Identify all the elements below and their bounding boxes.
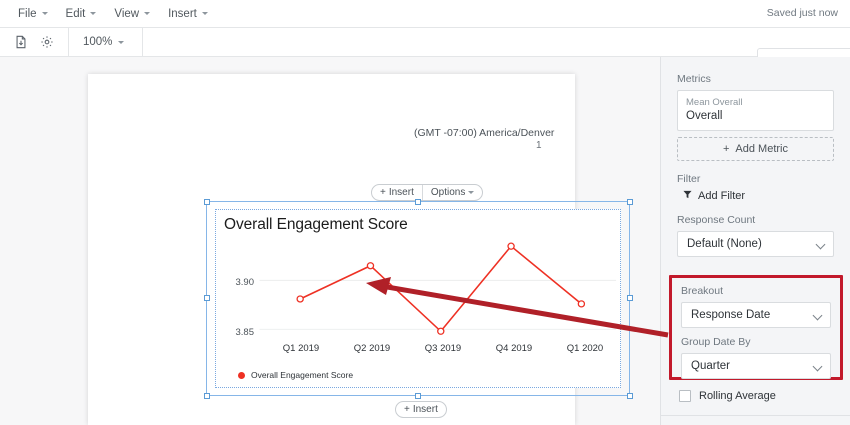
x-axis-tick-1: Q2 2019 bbox=[337, 343, 407, 354]
response-count-select[interactable]: Default (None) bbox=[677, 231, 834, 257]
menu-item-view[interactable]: View bbox=[105, 0, 159, 28]
resize-handle-middle-right[interactable] bbox=[627, 295, 633, 301]
plus-icon: + bbox=[723, 143, 729, 155]
document-download-icon[interactable] bbox=[8, 29, 34, 55]
rolling-average-label: Rolling Average bbox=[699, 390, 776, 402]
insert-toolbar-top: + Insert Options bbox=[371, 184, 483, 201]
menu-item-edit[interactable]: Edit bbox=[57, 0, 106, 28]
response-count-value: Default (None) bbox=[687, 238, 762, 250]
add-metric-label: Add Metric bbox=[735, 143, 788, 155]
series-markers bbox=[297, 243, 584, 334]
breakout-highlight-group: Breakout Response Date Group Date By Qua… bbox=[669, 275, 843, 380]
report-page: (GMT -07:00) America/Denver 1 + Insert O… bbox=[88, 74, 575, 425]
options-button[interactable]: Options bbox=[423, 185, 482, 200]
gear-icon[interactable] bbox=[34, 29, 60, 55]
resize-handle-bottom-center[interactable] bbox=[415, 393, 421, 399]
chevron-down-icon bbox=[118, 41, 124, 44]
menu-item-insert[interactable]: Insert bbox=[159, 0, 217, 28]
resize-handle-top-center[interactable] bbox=[415, 199, 421, 205]
chevron-down-icon bbox=[813, 362, 823, 372]
resize-handle-bottom-right[interactable] bbox=[627, 393, 633, 399]
toolbar: 100% bbox=[0, 28, 850, 57]
panel-divider bbox=[661, 415, 850, 416]
filter-section-label: Filter bbox=[677, 173, 834, 185]
app-root: File Edit View Insert Saved just now bbox=[0, 0, 850, 425]
resize-handle-bottom-left[interactable] bbox=[204, 393, 210, 399]
resize-handle-top-right[interactable] bbox=[627, 199, 633, 205]
toolbar-divider bbox=[68, 28, 69, 57]
chevron-down-icon bbox=[90, 12, 96, 15]
panel-content: Metrics Mean Overall Overall + Add Metri… bbox=[661, 57, 850, 257]
toolbar-divider-right bbox=[142, 28, 143, 57]
menu-item-label: File bbox=[18, 8, 37, 20]
timezone-label: (GMT -07:00) America/Denver bbox=[414, 127, 554, 139]
x-axis-tick-4: Q1 2020 bbox=[550, 343, 620, 354]
plus-icon: + bbox=[404, 404, 410, 415]
insert-toolbar-bottom: + Insert bbox=[395, 401, 447, 418]
chevron-down-icon bbox=[202, 12, 208, 15]
x-axis-tick-2: Q3 2019 bbox=[408, 343, 478, 354]
group-date-by-value: Quarter bbox=[691, 360, 730, 372]
panel-tab[interactable] bbox=[757, 48, 850, 57]
save-status: Saved just now bbox=[767, 7, 838, 19]
plus-icon: + bbox=[380, 187, 386, 198]
resize-handle-top-left[interactable] bbox=[204, 199, 210, 205]
response-count-label: Response Count bbox=[677, 214, 834, 226]
chevron-down-icon bbox=[468, 191, 474, 194]
metrics-section-label: Metrics bbox=[677, 73, 834, 85]
group-date-by-label: Group Date By bbox=[681, 336, 831, 348]
resize-handle-middle-left[interactable] bbox=[204, 295, 210, 301]
menu-item-file[interactable]: File bbox=[9, 0, 57, 28]
chevron-down-icon bbox=[144, 12, 150, 15]
add-metric-button[interactable]: + Add Metric bbox=[677, 137, 834, 161]
insert-label: Insert bbox=[389, 187, 414, 198]
insert-label: Insert bbox=[413, 404, 438, 415]
metric-card-subtitle: Mean Overall bbox=[686, 96, 825, 109]
canvas-area: (GMT -07:00) America/Denver 1 + Insert O… bbox=[0, 57, 660, 425]
add-filter-label: Add Filter bbox=[698, 190, 745, 202]
metric-card-title: Overall bbox=[686, 109, 825, 124]
chevron-down-icon bbox=[813, 311, 823, 321]
x-axis-tick-3: Q4 2019 bbox=[479, 343, 549, 354]
chart-selection-frame[interactable]: Overall Engagement Score 3.90 3.85 bbox=[206, 201, 630, 396]
breakout-section-label: Breakout bbox=[681, 285, 831, 297]
funnel-icon bbox=[683, 190, 692, 202]
zoom-control[interactable]: 100% bbox=[77, 36, 130, 48]
menu-item-label: Insert bbox=[168, 8, 197, 20]
chevron-down-icon bbox=[816, 240, 826, 250]
menu-bar: File Edit View Insert Saved just now bbox=[0, 0, 850, 28]
checkbox-unchecked-icon[interactable] bbox=[679, 390, 691, 402]
breakout-value: Response Date bbox=[691, 309, 770, 321]
insert-button-bottom[interactable]: + Insert bbox=[396, 402, 446, 417]
legend-color-swatch bbox=[238, 372, 245, 379]
rolling-average-row[interactable]: Rolling Average bbox=[679, 390, 776, 402]
chart-widget[interactable]: Overall Engagement Score 3.90 3.85 bbox=[215, 209, 621, 388]
page-number: 1 bbox=[536, 140, 542, 151]
group-date-by-select[interactable]: Quarter bbox=[681, 353, 831, 379]
chart-settings-panel: Metrics Mean Overall Overall + Add Metri… bbox=[660, 57, 850, 425]
zoom-level-label: 100% bbox=[83, 36, 112, 48]
options-label: Options bbox=[431, 187, 465, 198]
breakout-select[interactable]: Response Date bbox=[681, 302, 831, 328]
legend-label: Overall Engagement Score bbox=[251, 370, 353, 380]
chart-plot bbox=[216, 210, 620, 387]
add-filter-button[interactable]: Add Filter bbox=[677, 190, 834, 202]
menu-item-label: View bbox=[114, 8, 139, 20]
series-line-overall-engagement-score bbox=[300, 246, 581, 331]
x-axis-tick-0: Q1 2019 bbox=[266, 343, 336, 354]
metric-card[interactable]: Mean Overall Overall bbox=[677, 90, 834, 131]
chevron-down-icon bbox=[42, 12, 48, 15]
chart-legend[interactable]: Overall Engagement Score bbox=[238, 370, 353, 380]
menu-item-label: Edit bbox=[66, 8, 86, 20]
